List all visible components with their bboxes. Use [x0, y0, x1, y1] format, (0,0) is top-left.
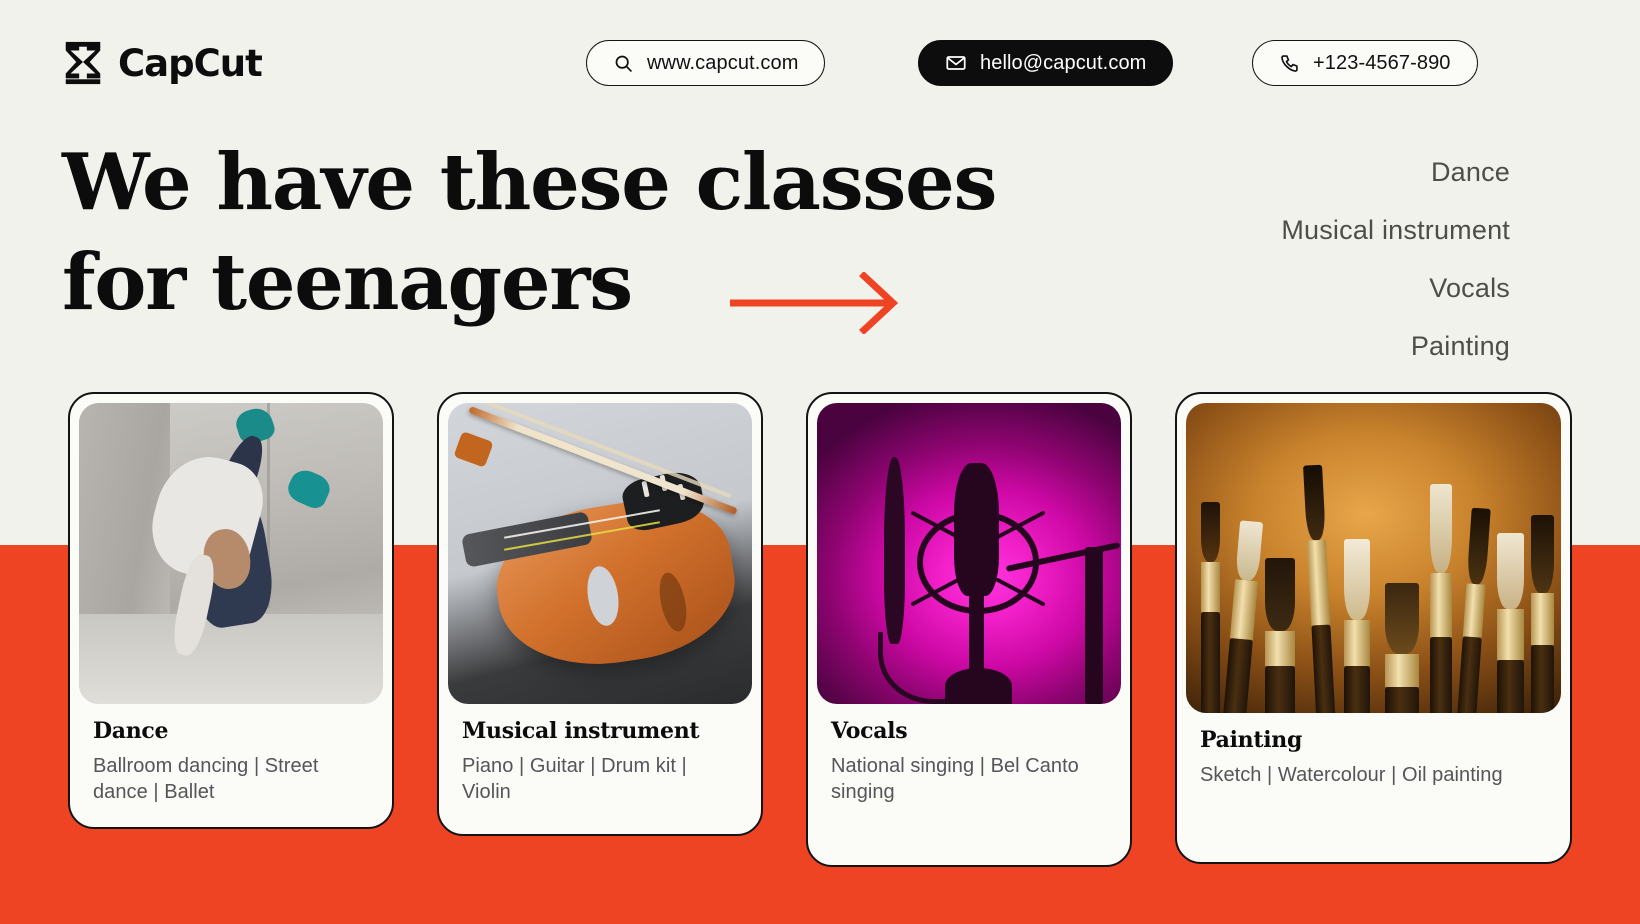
search-icon	[613, 53, 634, 74]
phone-icon	[1279, 53, 1300, 74]
capcut-logo-icon	[60, 40, 106, 86]
contact-pill-phone-label: +123-4567-890	[1313, 52, 1451, 75]
mail-icon	[945, 52, 967, 74]
class-card-title: Musical instrument	[462, 718, 738, 744]
class-card-description: Piano | Guitar | Drum kit | Violin	[462, 753, 738, 806]
page-header: CapCut www.capcut.com hello@capcut.com +…	[0, 0, 1640, 125]
category-nav: Dance Musical instrument Vocals Painting	[1281, 143, 1510, 375]
nav-item-dance[interactable]: Dance	[1281, 143, 1510, 201]
class-card-description: Ballroom dancing | Street dance | Ballet	[93, 753, 369, 806]
violin-photo	[448, 403, 752, 704]
class-card-title: Vocals	[831, 718, 1107, 744]
class-card-title: Dance	[93, 718, 369, 744]
page-title-line-1: We have these classes	[62, 133, 1152, 233]
nav-item-musical-instrument[interactable]: Musical instrument	[1281, 201, 1510, 259]
page-title: We have these classes for teenagers	[62, 133, 1152, 333]
breakdancer-photo	[79, 403, 383, 704]
contact-pill-phone[interactable]: +123-4567-890	[1252, 40, 1478, 86]
brand-name: CapCut	[118, 45, 262, 82]
class-card-musical-instrument[interactable]: Musical instrument Piano | Guitar | Drum…	[437, 392, 763, 836]
class-card-title: Painting	[1200, 727, 1547, 753]
page-title-line-2: for teenagers	[62, 233, 1152, 333]
paintbrushes-photo	[1186, 403, 1561, 713]
class-card-description: National singing | Bel Canto singing	[831, 753, 1107, 806]
microphone-photo	[817, 403, 1121, 704]
contact-pill-email-label: hello@capcut.com	[980, 52, 1146, 75]
nav-item-painting[interactable]: Painting	[1281, 317, 1510, 375]
nav-item-vocals[interactable]: Vocals	[1281, 259, 1510, 317]
contact-pill-email[interactable]: hello@capcut.com	[918, 40, 1173, 86]
contact-pill-website[interactable]: www.capcut.com	[586, 40, 825, 86]
class-card-dance[interactable]: Dance Ballroom dancing | Street dance | …	[68, 392, 394, 829]
arrow-right-icon[interactable]	[728, 272, 900, 334]
contact-pill-website-label: www.capcut.com	[647, 52, 798, 75]
class-card-painting[interactable]: Painting Sketch | Watercolour | Oil pain…	[1175, 392, 1572, 864]
class-card-description: Sketch | Watercolour | Oil painting	[1200, 762, 1547, 788]
class-card-vocals[interactable]: Vocals National singing | Bel Canto sing…	[806, 392, 1132, 867]
brand-logo[interactable]: CapCut	[60, 40, 262, 86]
